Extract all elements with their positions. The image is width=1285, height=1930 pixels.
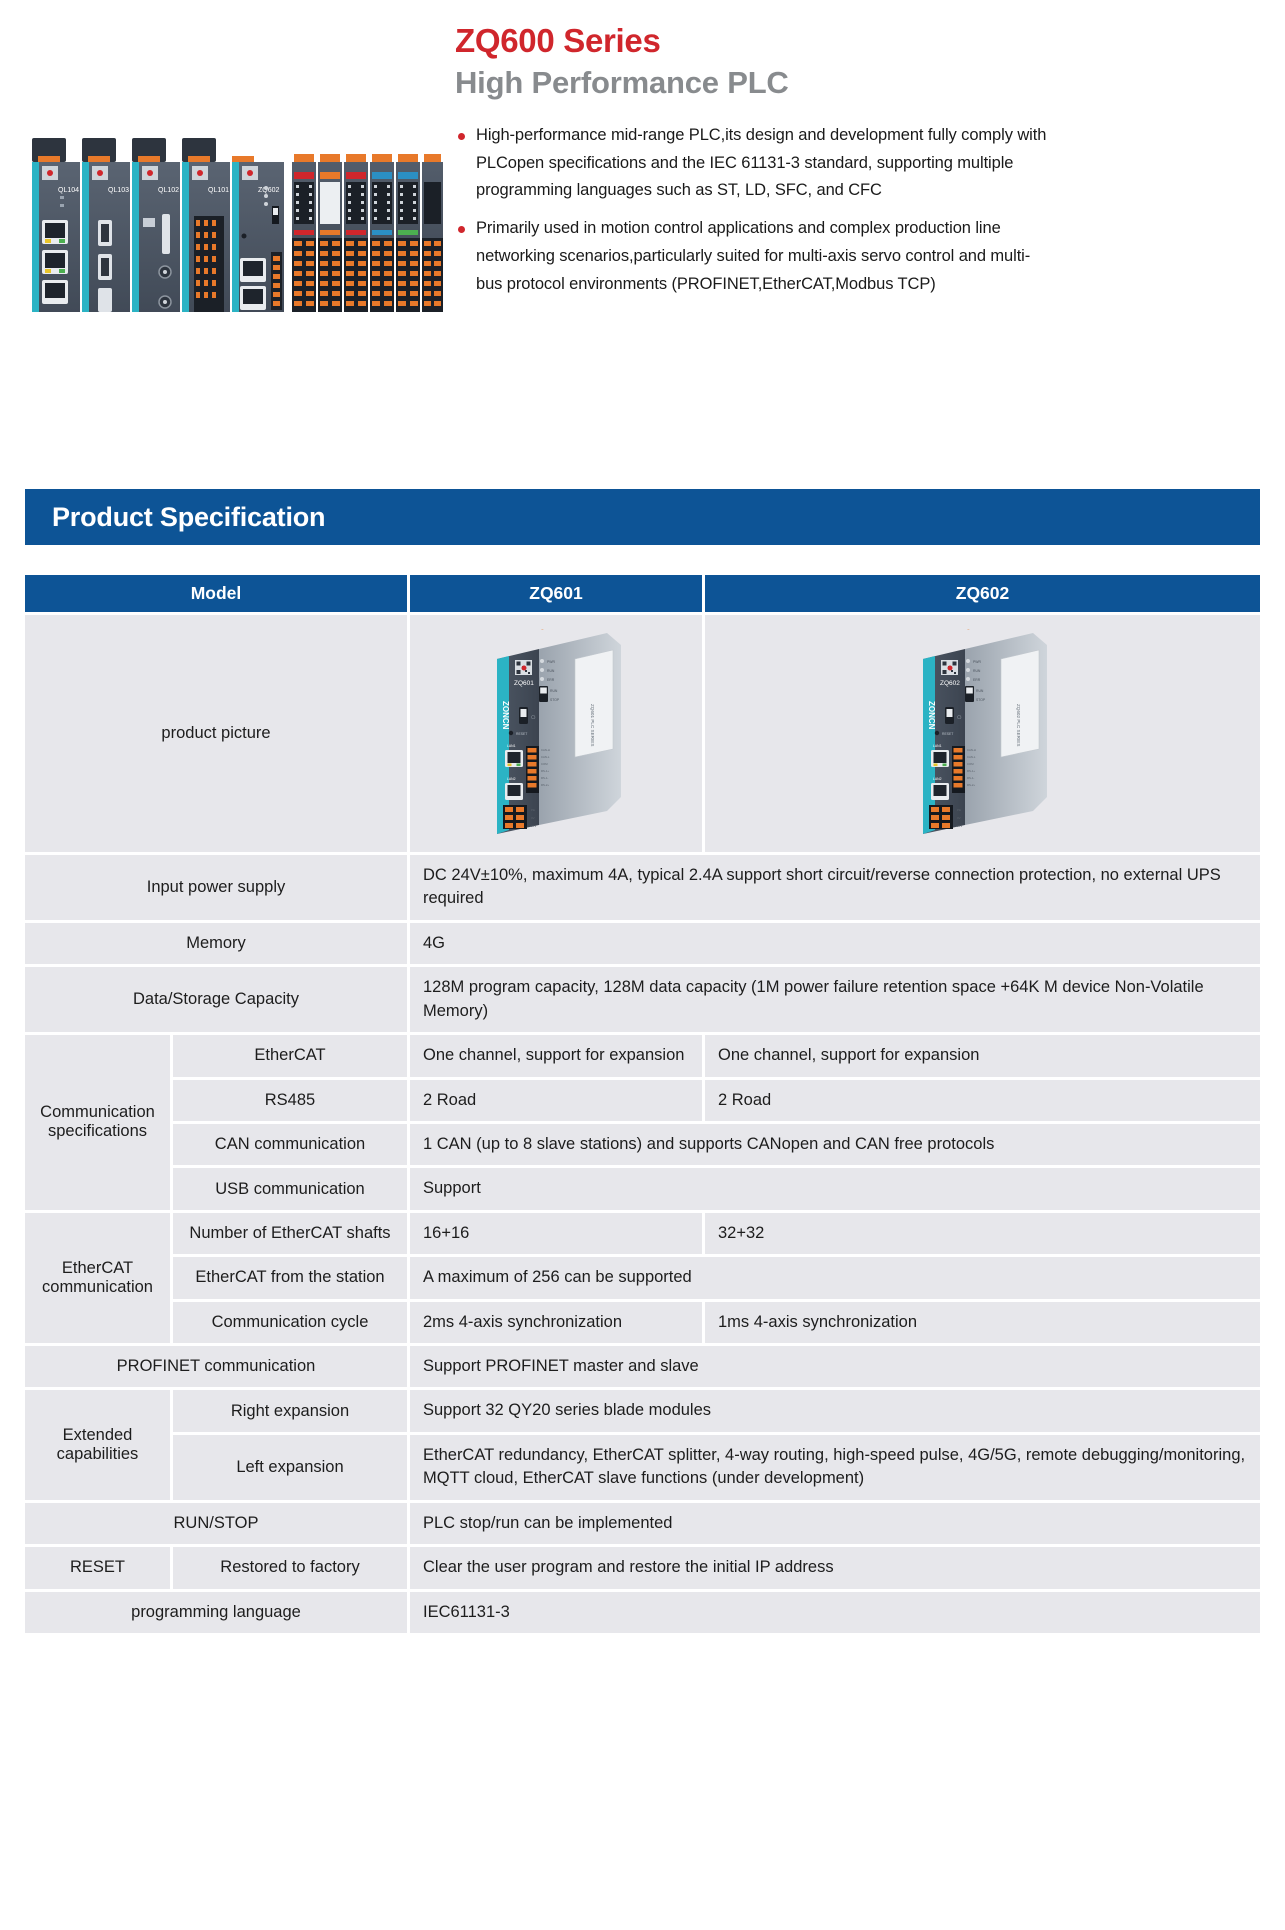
svg-text:ZQ602 PLC SERIES: ZQ602 PLC SERIES bbox=[1016, 704, 1021, 746]
svg-text:RS-1+: RS-1+ bbox=[967, 769, 975, 773]
table-row-communication-cycle: Communication cycle 2ms 4-axis synchroni… bbox=[25, 1302, 1260, 1346]
feature-bullet-item: Primarily used in motion control applica… bbox=[456, 215, 1056, 298]
row-value-profinet: Support PROFINET master and slave bbox=[410, 1346, 1260, 1390]
row-value-reset: Clear the user program and restore the i… bbox=[410, 1547, 1260, 1591]
row-label-left-expansion: Left expansion bbox=[173, 1435, 410, 1503]
svg-text:LAN2: LAN2 bbox=[507, 777, 516, 781]
svg-text:QL101: QL101 bbox=[208, 187, 229, 194]
svg-text:ZONCN: ZONCN bbox=[927, 701, 936, 730]
table-row-ethercat-station: EtherCAT from the station A maximum of 2… bbox=[25, 1257, 1260, 1301]
row-label-ethercat-shafts: Number of EtherCAT shafts bbox=[173, 1213, 410, 1257]
section-banner: Product Specification bbox=[25, 489, 1260, 545]
row-label-storage: Data/Storage Capacity bbox=[25, 967, 410, 1035]
row-value-shafts-zq602: 32+32 bbox=[705, 1213, 1260, 1257]
svg-text:24V: 24V bbox=[957, 824, 962, 828]
table-row-runstop: RUN/STOP PLC stop/run can be implemented bbox=[25, 1503, 1260, 1547]
row-label-ethercat: EtherCAT bbox=[173, 1035, 410, 1079]
row-value-memory: 4G bbox=[410, 923, 1260, 967]
row-label-rs485: RS485 bbox=[173, 1080, 410, 1124]
page-header: QL104 bbox=[0, 0, 1285, 400]
table-row-rs485: RS485 2 Road 2 Road bbox=[25, 1080, 1260, 1124]
svg-text:RESET: RESET bbox=[942, 732, 953, 736]
svg-text:CAN-L: CAN-L bbox=[967, 755, 976, 759]
row-label-can: CAN communication bbox=[173, 1124, 410, 1168]
row-value-storage: 128M program capacity, 128M data capacit… bbox=[410, 967, 1260, 1035]
table-row-reset: RESET Restored to factory Clear the user… bbox=[25, 1547, 1260, 1591]
table-row-input-power: Input power supply DC 24V±10%, maximum 4… bbox=[25, 855, 1260, 923]
table-row-product-picture: product picture ZQ601 PLC SERIES bbox=[25, 615, 1260, 855]
svg-text:COM: COM bbox=[541, 762, 548, 766]
product-image-zq601: ZQ601 PLC SERIES ZONCN bbox=[410, 615, 705, 855]
table-row-programming-language: programming language IEC61131-3 bbox=[25, 1592, 1260, 1636]
feature-bullet-text: High-performance mid-range PLC,its desig… bbox=[476, 126, 1046, 199]
column-header-model: Model bbox=[25, 575, 410, 615]
svg-text:0V: 0V bbox=[957, 816, 961, 820]
svg-text:STOP: STOP bbox=[976, 698, 986, 702]
row-label-memory: Memory bbox=[25, 923, 410, 967]
row-label-input-power: Input power supply bbox=[25, 855, 410, 923]
table-row-usb: USB communication Support bbox=[25, 1168, 1260, 1212]
zq602-module-illustration: ZQ602 PLC SERIES ZONCN ZQ602 PWR bbox=[905, 629, 1060, 834]
svg-text:RUN: RUN bbox=[550, 689, 558, 693]
svg-text:QL104: QL104 bbox=[58, 187, 79, 194]
svg-text:0V: 0V bbox=[531, 816, 535, 820]
row-value-ethercat-station: A maximum of 256 can be supported bbox=[410, 1257, 1260, 1301]
row-label-profinet: PROFINET communication bbox=[25, 1346, 410, 1390]
row-value-input-power: DC 24V±10%, maximum 4A, typical 2.4A sup… bbox=[410, 855, 1260, 923]
row-value-programming-language: IEC61131-3 bbox=[410, 1592, 1260, 1636]
svg-text:COM: COM bbox=[967, 762, 974, 766]
table-row-memory: Memory 4G bbox=[25, 923, 1260, 967]
svg-text:RS-1+: RS-1+ bbox=[541, 769, 549, 773]
product-image-zq602: ZQ602 PLC SERIES ZONCN ZQ602 PWR bbox=[705, 615, 1260, 855]
svg-text:ZQ602: ZQ602 bbox=[258, 187, 280, 194]
row-label-programming-language: programming language bbox=[25, 1592, 410, 1636]
svg-text:ZQ601 PLC SERIES: ZQ601 PLC SERIES bbox=[590, 704, 595, 746]
product-subtitle: High Performance PLC bbox=[455, 63, 1055, 103]
svg-text:RS-1-: RS-1- bbox=[967, 776, 974, 780]
svg-text:QL102: QL102 bbox=[158, 187, 179, 194]
plc-rack-illustration: QL104 bbox=[28, 132, 443, 312]
table-row-ethercat-shafts: EtherCAT communication Number of EtherCA… bbox=[25, 1213, 1260, 1257]
svg-text:RS-1-: RS-1- bbox=[541, 776, 548, 780]
svg-text:RS-2+: RS-2+ bbox=[967, 783, 975, 787]
row-value-can: 1 CAN (up to 8 slave stations) and suppo… bbox=[410, 1124, 1260, 1168]
svg-text:QL103: QL103 bbox=[108, 187, 129, 194]
svg-text:ZQ601: ZQ601 bbox=[514, 680, 534, 687]
svg-text:CAN-H: CAN-H bbox=[967, 748, 976, 752]
row-sublabel-restored-to-factory: Restored to factory bbox=[173, 1547, 410, 1591]
group-label-communication-specs: Communication specifications bbox=[25, 1035, 173, 1213]
svg-text:RUN: RUN bbox=[976, 689, 984, 693]
svg-text:RS-2+: RS-2+ bbox=[541, 783, 549, 787]
svg-text:⎔: ⎔ bbox=[531, 715, 536, 721]
cpu-modules: QL104 bbox=[32, 138, 284, 312]
svg-text:RUN: RUN bbox=[973, 669, 981, 673]
column-header-zq601: ZQ601 bbox=[410, 575, 705, 615]
section-banner-title: Product Specification bbox=[25, 502, 325, 533]
row-label-right-expansion: Right expansion bbox=[173, 1390, 410, 1434]
row-label-communication-cycle: Communication cycle bbox=[173, 1302, 410, 1346]
feature-bullet-text: Primarily used in motion control applica… bbox=[476, 219, 1030, 292]
svg-text:24V: 24V bbox=[531, 824, 536, 828]
group-label-ethercat-communication: EtherCAT communication bbox=[25, 1213, 173, 1346]
svg-text:PE: PE bbox=[957, 808, 961, 812]
product-title-block: ZQ600 Series High Performance PLC bbox=[455, 20, 1055, 104]
row-value-rs485-zq601: 2 Road bbox=[410, 1080, 705, 1124]
row-label-runstop: RUN/STOP bbox=[25, 1503, 410, 1547]
table-row-right-expansion: Extended capabilities Right expansion Su… bbox=[25, 1390, 1260, 1434]
row-label-usb: USB communication bbox=[173, 1168, 410, 1212]
svg-text:ZQ602: ZQ602 bbox=[940, 680, 960, 687]
svg-text:ERR: ERR bbox=[547, 678, 555, 682]
row-value-ethercat-zq601: One channel, support for expansion bbox=[410, 1035, 705, 1079]
svg-text:PWR: PWR bbox=[973, 660, 981, 664]
svg-text:CAN-H: CAN-H bbox=[541, 748, 550, 752]
row-value-right-expansion: Support 32 QY20 series blade modules bbox=[410, 1390, 1260, 1434]
table-header-row: Model ZQ601 ZQ602 bbox=[25, 575, 1260, 615]
svg-text:CAN-L: CAN-L bbox=[541, 755, 550, 759]
row-value-cycle-zq601: 2ms 4-axis synchronization bbox=[410, 1302, 705, 1346]
row-label-product-picture: product picture bbox=[25, 615, 410, 855]
svg-text:LAN1: LAN1 bbox=[933, 744, 942, 748]
feature-bullet-list: High-performance mid-range PLC,its desig… bbox=[456, 122, 1056, 308]
bullet-dot-icon bbox=[458, 226, 465, 233]
row-value-usb: Support bbox=[410, 1168, 1260, 1212]
bullet-dot-icon bbox=[458, 133, 465, 140]
table-row-left-expansion: Left expansion EtherCAT redundancy, Ethe… bbox=[25, 1435, 1260, 1503]
zq601-module-illustration: ZQ601 PLC SERIES ZONCN bbox=[479, 629, 634, 834]
table-row-can: CAN communication 1 CAN (up to 8 slave s… bbox=[25, 1124, 1260, 1168]
table-row-ethercat-channel: Communication specifications EtherCAT On… bbox=[25, 1035, 1260, 1079]
row-value-shafts-zq601: 16+16 bbox=[410, 1213, 705, 1257]
svg-text:PE: PE bbox=[531, 808, 535, 812]
svg-text:RESET: RESET bbox=[516, 732, 527, 736]
row-label-reset: RESET bbox=[25, 1547, 173, 1591]
hero-product-image: QL104 bbox=[28, 132, 443, 312]
svg-text:LAN2: LAN2 bbox=[933, 777, 942, 781]
svg-text:RUN: RUN bbox=[547, 669, 555, 673]
row-value-ethercat-zq602: One channel, support for expansion bbox=[705, 1035, 1260, 1079]
group-label-extended-capabilities: Extended capabilities bbox=[25, 1390, 173, 1502]
row-value-left-expansion: EtherCAT redundancy, EtherCAT splitter, … bbox=[410, 1435, 1260, 1503]
product-series-title: ZQ600 Series bbox=[455, 20, 1055, 61]
column-header-zq602: ZQ602 bbox=[705, 575, 1260, 615]
row-value-runstop: PLC stop/run can be implemented bbox=[410, 1503, 1260, 1547]
table-row-storage: Data/Storage Capacity 128M program capac… bbox=[25, 967, 1260, 1035]
io-expansion-modules bbox=[292, 154, 443, 312]
svg-text:STOP: STOP bbox=[550, 698, 560, 702]
svg-text:ERR: ERR bbox=[973, 678, 981, 682]
svg-text:⎔: ⎔ bbox=[957, 715, 962, 721]
svg-text:PWR: PWR bbox=[547, 660, 555, 664]
row-label-ethercat-station: EtherCAT from the station bbox=[173, 1257, 410, 1301]
product-specification-table: Model ZQ601 ZQ602 product picture bbox=[25, 575, 1260, 1636]
row-value-rs485-zq602: 2 Road bbox=[705, 1080, 1260, 1124]
row-value-cycle-zq602: 1ms 4-axis synchronization bbox=[705, 1302, 1260, 1346]
svg-text:LAN1: LAN1 bbox=[507, 744, 516, 748]
table-row-profinet: PROFINET communication Support PROFINET … bbox=[25, 1346, 1260, 1390]
svg-text:ZONCN: ZONCN bbox=[501, 701, 510, 730]
feature-bullet-item: High-performance mid-range PLC,its desig… bbox=[456, 122, 1056, 205]
